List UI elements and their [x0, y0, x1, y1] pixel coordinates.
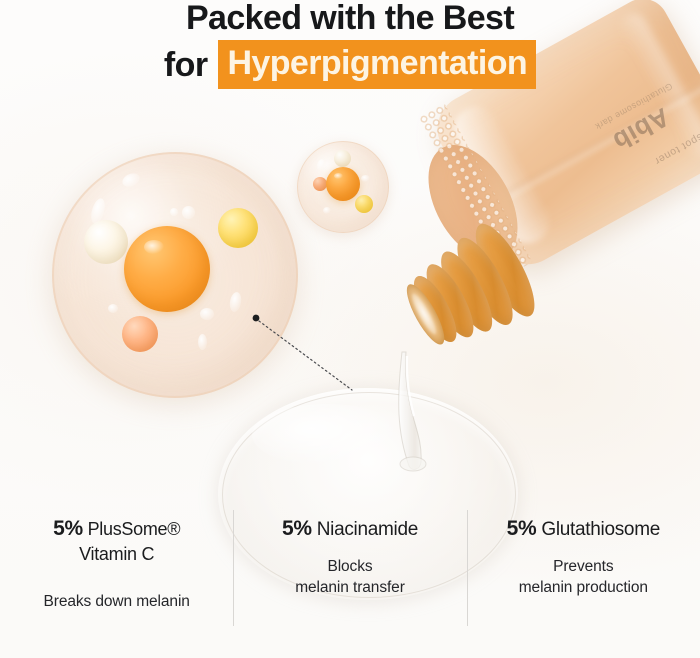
ingredient-name: 5% Niacinamide [239, 516, 460, 542]
ingredient-description: Blocks melanin transfer [239, 556, 460, 598]
leader-anchor-dot [253, 315, 260, 322]
ingredient-percent: 5% [282, 517, 312, 540]
ingredient-column-vitamin-c: 5% PlusSome® Vitamin C Breaks down melan… [0, 506, 233, 634]
ingredient-percent: 5% [53, 517, 83, 540]
bubble-highlight-blob [361, 175, 370, 182]
bubble-highlight-blob [200, 308, 214, 320]
headline-for-word: for [164, 44, 208, 86]
serum-droplet-yellow [355, 195, 373, 213]
bubble-highlight-blob [182, 206, 195, 219]
bubble-highlight-blob [198, 334, 207, 350]
ingredient-columns: 5% PlusSome® Vitamin C Breaks down melan… [0, 506, 700, 634]
serum-droplet-cream [334, 150, 351, 167]
ingredient-name: 5% PlusSome® Vitamin C [6, 516, 227, 567]
headline-line-2: for Hyperpigmentation [0, 40, 700, 89]
headline-block: Packed with the Best for Hyperpigmentati… [0, 0, 700, 89]
serum-droplet-core [124, 226, 210, 312]
ingredient-name: 5% Glutathiosome [473, 516, 694, 542]
serum-droplet-core [326, 167, 360, 201]
callout-leader-line [248, 310, 358, 396]
ingredient-column-glutathiosome: 5% Glutathiosome Prevents melanin produc… [467, 506, 700, 634]
serum-droplet-cream [84, 220, 128, 264]
ingredient-description: Prevents melanin production [473, 556, 694, 598]
ingredient-description: Breaks down melanin [6, 591, 227, 612]
ingredient-percent: 5% [507, 517, 537, 540]
liquid-puddle-sheen [252, 404, 402, 466]
ingredient-column-niacinamide: 5% Niacinamide Blocks melanin transfer [233, 506, 466, 634]
serum-core-highlight [334, 173, 343, 179]
serum-droplet-yellow [218, 208, 258, 248]
serum-droplet-peach [122, 316, 158, 352]
serum-droplet-peach [313, 177, 327, 191]
headline-highlight-hyperpigmentation: Hyperpigmentation [218, 40, 536, 89]
product-bottle: spot toner Abib Glutathiosome dark [396, 96, 700, 416]
serum-bubble-small-icon [297, 141, 389, 233]
bubble-highlight-blob [323, 207, 331, 214]
headline-line-1: Packed with the Best [0, 0, 700, 38]
serum-core-highlight [144, 240, 164, 254]
product-infographic: Packed with the Best for Hyperpigmentati… [0, 0, 700, 658]
bubble-highlight-blob [170, 208, 178, 216]
bubble-highlight-blob [108, 304, 118, 313]
